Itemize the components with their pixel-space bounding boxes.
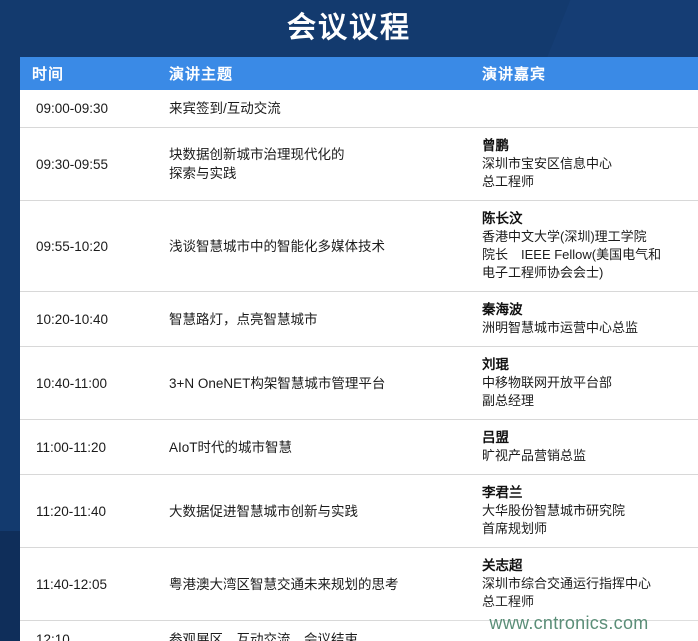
topic-line: 3+N OneNET构架智慧城市管理平台 — [169, 374, 453, 393]
cell-speaker: 吕盟旷视产品营销总监 — [459, 420, 698, 475]
cell-topic: 3+N OneNET构架智慧城市管理平台 — [157, 347, 459, 420]
table-header-row: 时间 演讲主题 演讲嘉宾 — [20, 57, 698, 90]
speaker-name: 吕盟 — [482, 429, 698, 447]
topic-line: 探索与实践 — [169, 164, 453, 183]
speaker-name: 陈长汶 — [482, 210, 698, 228]
speaker-title-line: 深圳市综合交通运行指挥中心 — [482, 575, 698, 593]
watermark-text: www.cntronics.com — [489, 613, 648, 634]
cell-time: 11:20-11:40 — [20, 475, 157, 548]
table-row: 10:40-11:003+N OneNET构架智慧城市管理平台刘琨中移物联网开放… — [20, 347, 698, 420]
topic-line: 粤港澳大湾区智慧交通未来规划的思考 — [169, 575, 453, 594]
cell-topic: 智慧路灯，点亮智慧城市 — [157, 292, 459, 347]
topic-line: 来宾签到/互动交流 — [169, 99, 453, 118]
cell-time: 11:40-12:05 — [20, 548, 157, 621]
column-header-speaker: 演讲嘉宾 — [459, 57, 698, 90]
page-title: 会议议程 — [0, 8, 698, 48]
cell-time: 10:20-10:40 — [20, 292, 157, 347]
cell-topic: 浅谈智慧城市中的智能化多媒体技术 — [157, 201, 459, 292]
topic-line: 块数据创新城市治理现代化的 — [169, 145, 453, 164]
table-row: 09:55-10:20浅谈智慧城市中的智能化多媒体技术陈长汶香港中文大学(深圳)… — [20, 201, 698, 292]
watermark: www.cntronics.com — [440, 605, 698, 641]
speaker-title-line: 旷视产品营销总监 — [482, 447, 698, 465]
topic-line: 浅谈智慧城市中的智能化多媒体技术 — [169, 237, 453, 256]
topic-line: 参观展区、互动交流，会议结束 — [169, 630, 453, 641]
cell-topic: 块数据创新城市治理现代化的探索与实践 — [157, 128, 459, 201]
table-row: 11:20-11:40大数据促进智慧城市创新与实践李君兰大华股份智慧城市研究院首… — [20, 475, 698, 548]
speaker-name: 秦海波 — [482, 301, 698, 319]
speaker-name: 曾鹏 — [482, 137, 698, 155]
agenda-table-head: 时间 演讲主题 演讲嘉宾 — [20, 57, 698, 90]
agenda-table-body: 09:00-09:30来宾签到/互动交流09:30-09:55块数据创新城市治理… — [20, 90, 698, 641]
speaker-title-line: 总工程师 — [482, 173, 698, 191]
speaker-title-line: 洲明智慧城市运营中心总监 — [482, 319, 698, 337]
table-row: 10:20-10:40智慧路灯，点亮智慧城市秦海波洲明智慧城市运营中心总监 — [20, 292, 698, 347]
topic-line: 智慧路灯，点亮智慧城市 — [169, 310, 453, 329]
speaker-title-line: 首席规划师 — [482, 520, 698, 538]
column-header-topic: 演讲主题 — [157, 57, 459, 90]
topic-line: AIoT时代的城市智慧 — [169, 438, 453, 457]
table-row: 09:00-09:30来宾签到/互动交流 — [20, 90, 698, 128]
speaker-name: 刘琨 — [482, 356, 698, 374]
cell-speaker: 刘琨中移物联网开放平台部副总经理 — [459, 347, 698, 420]
speaker-title-line: 电子工程师协会会士) — [482, 264, 698, 282]
cell-speaker: 秦海波洲明智慧城市运营中心总监 — [459, 292, 698, 347]
table-row: 09:30-09:55块数据创新城市治理现代化的探索与实践曾鹏深圳市宝安区信息中… — [20, 128, 698, 201]
cell-topic: 大数据促进智慧城市创新与实践 — [157, 475, 459, 548]
cell-time: 09:30-09:55 — [20, 128, 157, 201]
cell-topic: 参观展区、互动交流，会议结束 — [157, 621, 459, 641]
table-row: 11:00-11:20AIoT时代的城市智慧吕盟旷视产品营销总监 — [20, 420, 698, 475]
cell-topic: 粤港澳大湾区智慧交通未来规划的思考 — [157, 548, 459, 621]
speaker-title-line: 深圳市宝安区信息中心 — [482, 155, 698, 173]
cell-time: 10:40-11:00 — [20, 347, 157, 420]
column-header-time: 时间 — [20, 57, 157, 90]
speaker-name: 李君兰 — [482, 484, 698, 502]
speaker-title-line: 大华股份智慧城市研究院 — [482, 502, 698, 520]
cell-speaker: 曾鹏深圳市宝安区信息中心总工程师 — [459, 128, 698, 201]
cell-topic: 来宾签到/互动交流 — [157, 90, 459, 128]
speaker-title-line: 中移物联网开放平台部 — [482, 374, 698, 392]
speaker-title-line: 副总经理 — [482, 392, 698, 410]
speaker-name: 关志超 — [482, 557, 698, 575]
cell-time: 09:00-09:30 — [20, 90, 157, 128]
speaker-title-line: 香港中文大学(深圳)理工学院 — [482, 228, 698, 246]
cell-speaker — [459, 90, 698, 128]
cell-speaker: 陈长汶香港中文大学(深圳)理工学院院长 IEEE Fellow(美国电气和电子工… — [459, 201, 698, 292]
slide-root: 会议议程 时间 演讲主题 演讲嘉宾 09:00-09:30来宾签到/互动交流09… — [0, 0, 698, 641]
cell-topic: AIoT时代的城市智慧 — [157, 420, 459, 475]
agenda-table: 时间 演讲主题 演讲嘉宾 09:00-09:30来宾签到/互动交流09:30-0… — [20, 57, 698, 641]
cell-speaker: 李君兰大华股份智慧城市研究院首席规划师 — [459, 475, 698, 548]
cell-time: 11:00-11:20 — [20, 420, 157, 475]
topic-line: 大数据促进智慧城市创新与实践 — [169, 502, 453, 521]
cell-time: 09:55-10:20 — [20, 201, 157, 292]
cell-time: 12:10 — [20, 621, 157, 641]
speaker-title-line: 院长 IEEE Fellow(美国电气和 — [482, 246, 698, 264]
